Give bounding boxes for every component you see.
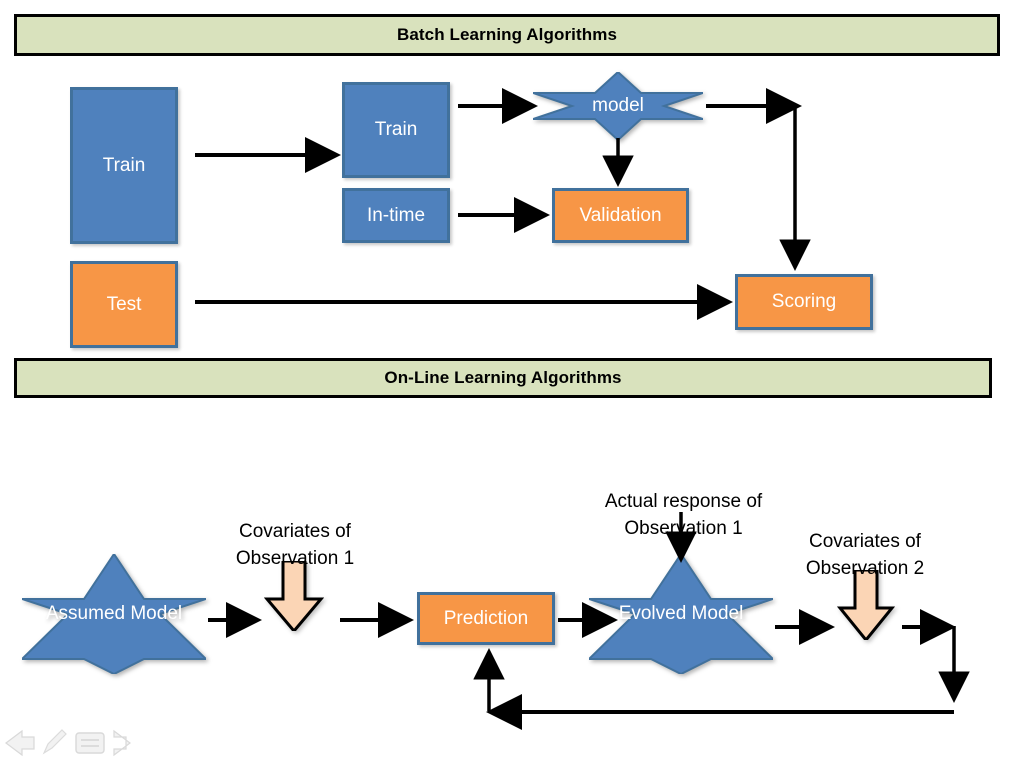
online-banner-label: On-Line Learning Algorithms xyxy=(384,368,621,388)
intime-split-box[interactable]: In-time xyxy=(342,188,450,243)
connector-covariates1-to-prediction xyxy=(340,610,420,630)
connector-test-to-scoring xyxy=(195,292,740,312)
connector-model-to-validation xyxy=(608,138,628,188)
assumed-model-label: Assumed Model xyxy=(46,603,182,626)
batch-section-banner: Batch Learning Algorithms xyxy=(14,14,1000,56)
connector-feedback-loop xyxy=(480,645,960,725)
slideshow-nav-bar[interactable] xyxy=(0,725,170,757)
covariates-2-annotation: Covariates of Observation 2 xyxy=(785,500,945,583)
scoring-label: Scoring xyxy=(772,291,836,313)
covariates-1-annotation: Covariates of Observation 1 xyxy=(215,490,375,573)
train-split-box[interactable]: Train xyxy=(342,82,450,178)
batch-banner-label: Batch Learning Algorithms xyxy=(397,25,617,45)
prediction-label: Prediction xyxy=(444,608,529,630)
intime-split-label: In-time xyxy=(367,205,425,227)
train-source-label: Train xyxy=(103,155,146,177)
assumed-model-star[interactable]: Assumed Model xyxy=(22,554,206,674)
connector-assumed-to-covariates1 xyxy=(208,610,268,630)
slide-canvas: Batch Learning Algorithms Train Test Tra… xyxy=(0,0,1009,757)
validation-label: Validation xyxy=(579,205,661,227)
previous-slide-icon[interactable] xyxy=(6,731,34,755)
next-slide-icon[interactable] xyxy=(114,731,130,755)
connector-actualresponse-to-evolved xyxy=(671,512,691,564)
online-section-banner: On-Line Learning Algorithms xyxy=(14,358,992,398)
test-source-label: Test xyxy=(107,294,142,316)
connector-intime-to-validation xyxy=(458,205,558,225)
slideshow-menu-icon[interactable] xyxy=(76,733,104,753)
scoring-box[interactable]: Scoring xyxy=(735,274,873,330)
connector-prediction-to-evolved xyxy=(558,610,628,630)
prediction-box[interactable]: Prediction xyxy=(417,592,555,645)
train-source-box[interactable]: Train xyxy=(70,87,178,244)
test-source-box[interactable]: Test xyxy=(70,261,178,348)
model-star-label: model xyxy=(592,95,644,118)
connector-trainsplit-to-model xyxy=(458,96,548,116)
connector-evolved-to-covariates2 xyxy=(775,617,841,637)
model-star[interactable]: model xyxy=(533,72,703,140)
evolved-model-label: Evolved Model xyxy=(619,603,744,626)
train-split-label: Train xyxy=(375,119,418,141)
pen-tool-icon[interactable] xyxy=(44,730,66,753)
covariates-2-text: Covariates of Observation 2 xyxy=(806,531,924,580)
connector-train-to-split xyxy=(195,145,345,165)
covariates-1-text: Covariates of Observation 1 xyxy=(236,521,354,570)
connector-model-to-scoring xyxy=(706,96,816,281)
validation-box[interactable]: Validation xyxy=(552,188,689,243)
